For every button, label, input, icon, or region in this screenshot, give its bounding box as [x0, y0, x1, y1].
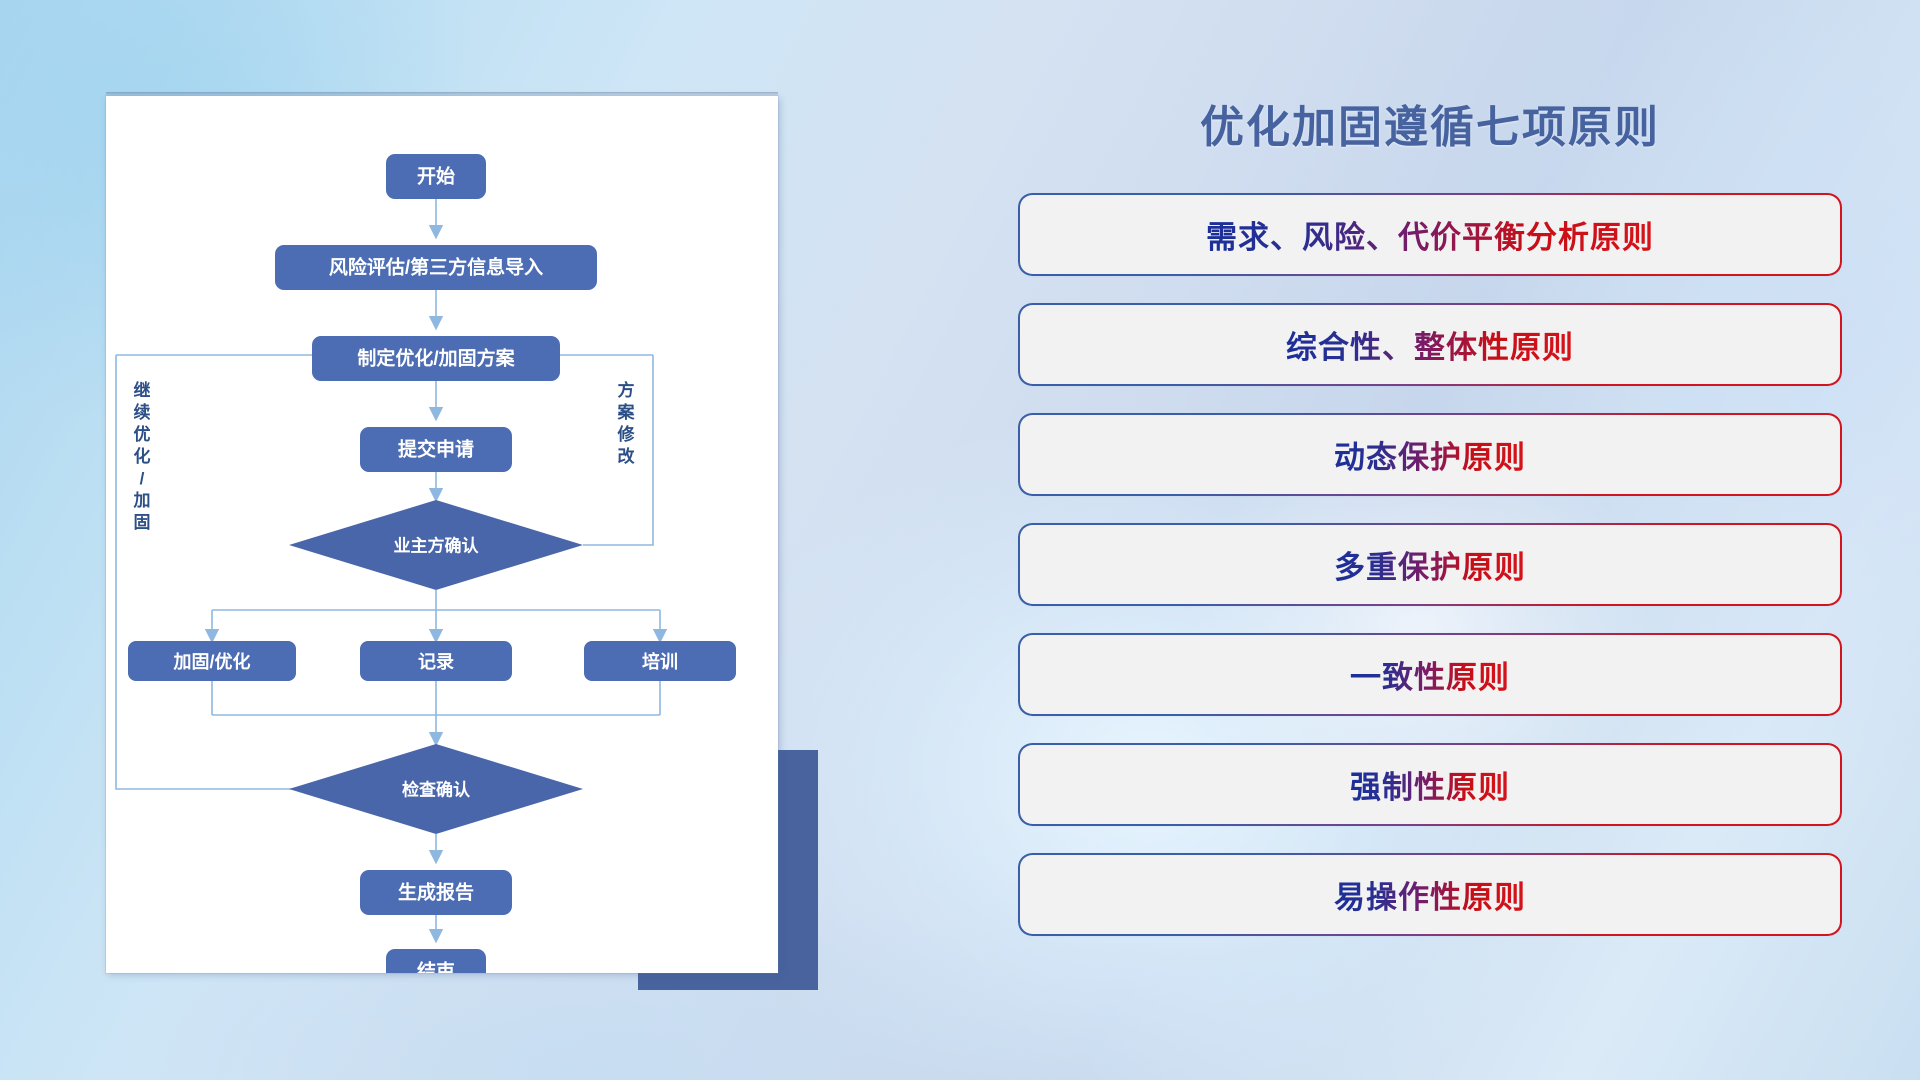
principle-item-7[interactable]: 易操作性原则 [1020, 854, 1840, 934]
svg-text:固: 固 [134, 513, 151, 532]
principle-label: 多重保护原则 [1334, 542, 1526, 587]
flow-node-record-label: 记录 [418, 652, 454, 672]
svg-text:优: 优 [134, 424, 151, 444]
flow-node-end[interactable]: 结束 [386, 949, 486, 973]
flow-node-check-label: 检查确认 [402, 780, 471, 800]
svg-text:修: 修 [617, 424, 636, 444]
flow-node-owner-confirm[interactable]: 业主方确认 [289, 500, 583, 590]
svg-text:方: 方 [618, 380, 635, 400]
flow-node-assess[interactable]: 风险评估/第三方信息导入 [275, 245, 597, 290]
principle-label: 动态保护原则 [1334, 432, 1526, 477]
principle-label: 一致性原则 [1350, 652, 1510, 697]
flow-node-report[interactable]: 生成报告 [360, 870, 512, 915]
flow-node-training[interactable]: 培训 [584, 641, 736, 681]
flow-node-training-label: 培训 [642, 651, 678, 672]
flow-node-plan-label: 制定优化/加固方案 [357, 347, 515, 370]
svg-text:改: 改 [618, 446, 636, 466]
flow-node-owner-confirm-label: 业主方确认 [394, 536, 480, 556]
flow-node-submit-label: 提交申请 [398, 438, 474, 461]
flowchart-card: 继 续 优 化 / 加 固 方 案 修 改 开始 风险评估/第三方信息导入 制定… [106, 96, 778, 973]
principle-label: 需求、风险、代价平衡分析原则 [1206, 212, 1654, 257]
principle-item-5[interactable]: 一致性原则 [1020, 634, 1840, 714]
principle-item-1[interactable]: 需求、风险、代价平衡分析原则 [1020, 194, 1840, 274]
svg-text:/: / [140, 469, 145, 488]
svg-text:加: 加 [133, 491, 151, 510]
principle-item-4[interactable]: 多重保护原则 [1020, 524, 1840, 604]
svg-text:案: 案 [617, 402, 636, 422]
page-title: 优化加固遵循七项原则 [1020, 104, 1840, 152]
flow-node-assess-label: 风险评估/第三方信息导入 [329, 256, 543, 279]
flow-node-end-label: 结束 [417, 960, 456, 974]
principle-item-3[interactable]: 动态保护原则 [1020, 414, 1840, 494]
flow-node-record[interactable]: 记录 [360, 641, 512, 681]
flow-edge-label-left: 继 续 优 化 / 加 固 [133, 380, 151, 532]
svg-text:化: 化 [134, 446, 151, 466]
principle-item-6[interactable]: 强制性原则 [1020, 744, 1840, 824]
flow-node-start-label: 开始 [417, 165, 455, 188]
principle-label: 易操作性原则 [1334, 872, 1526, 917]
flow-edge-label-right: 方 案 修 改 [617, 380, 636, 466]
svg-text:继: 继 [134, 380, 151, 400]
flowchart-diagram: 继 续 优 化 / 加 固 方 案 修 改 开始 风险评估/第三方信息导入 制定… [106, 96, 778, 973]
flow-node-start[interactable]: 开始 [386, 154, 486, 199]
svg-text:续: 续 [134, 402, 151, 422]
flow-node-reinforce-label: 加固/优化 [172, 651, 250, 672]
principles-list: 需求、风险、代价平衡分析原则 综合性、整体性原则 动态保护原则 多重保护原则 一… [1020, 194, 1840, 934]
flow-node-plan[interactable]: 制定优化/加固方案 [312, 336, 560, 381]
principles-panel: 优化加固遵循七项原则 需求、风险、代价平衡分析原则 综合性、整体性原则 动态保护… [1020, 104, 1840, 1004]
principle-label: 强制性原则 [1350, 762, 1510, 807]
flow-node-report-label: 生成报告 [398, 881, 474, 904]
principle-item-2[interactable]: 综合性、整体性原则 [1020, 304, 1840, 384]
flow-node-reinforce[interactable]: 加固/优化 [128, 641, 296, 681]
principle-label: 综合性、整体性原则 [1286, 322, 1574, 367]
flow-node-check[interactable]: 检查确认 [289, 744, 583, 834]
flow-node-submit[interactable]: 提交申请 [360, 427, 512, 472]
